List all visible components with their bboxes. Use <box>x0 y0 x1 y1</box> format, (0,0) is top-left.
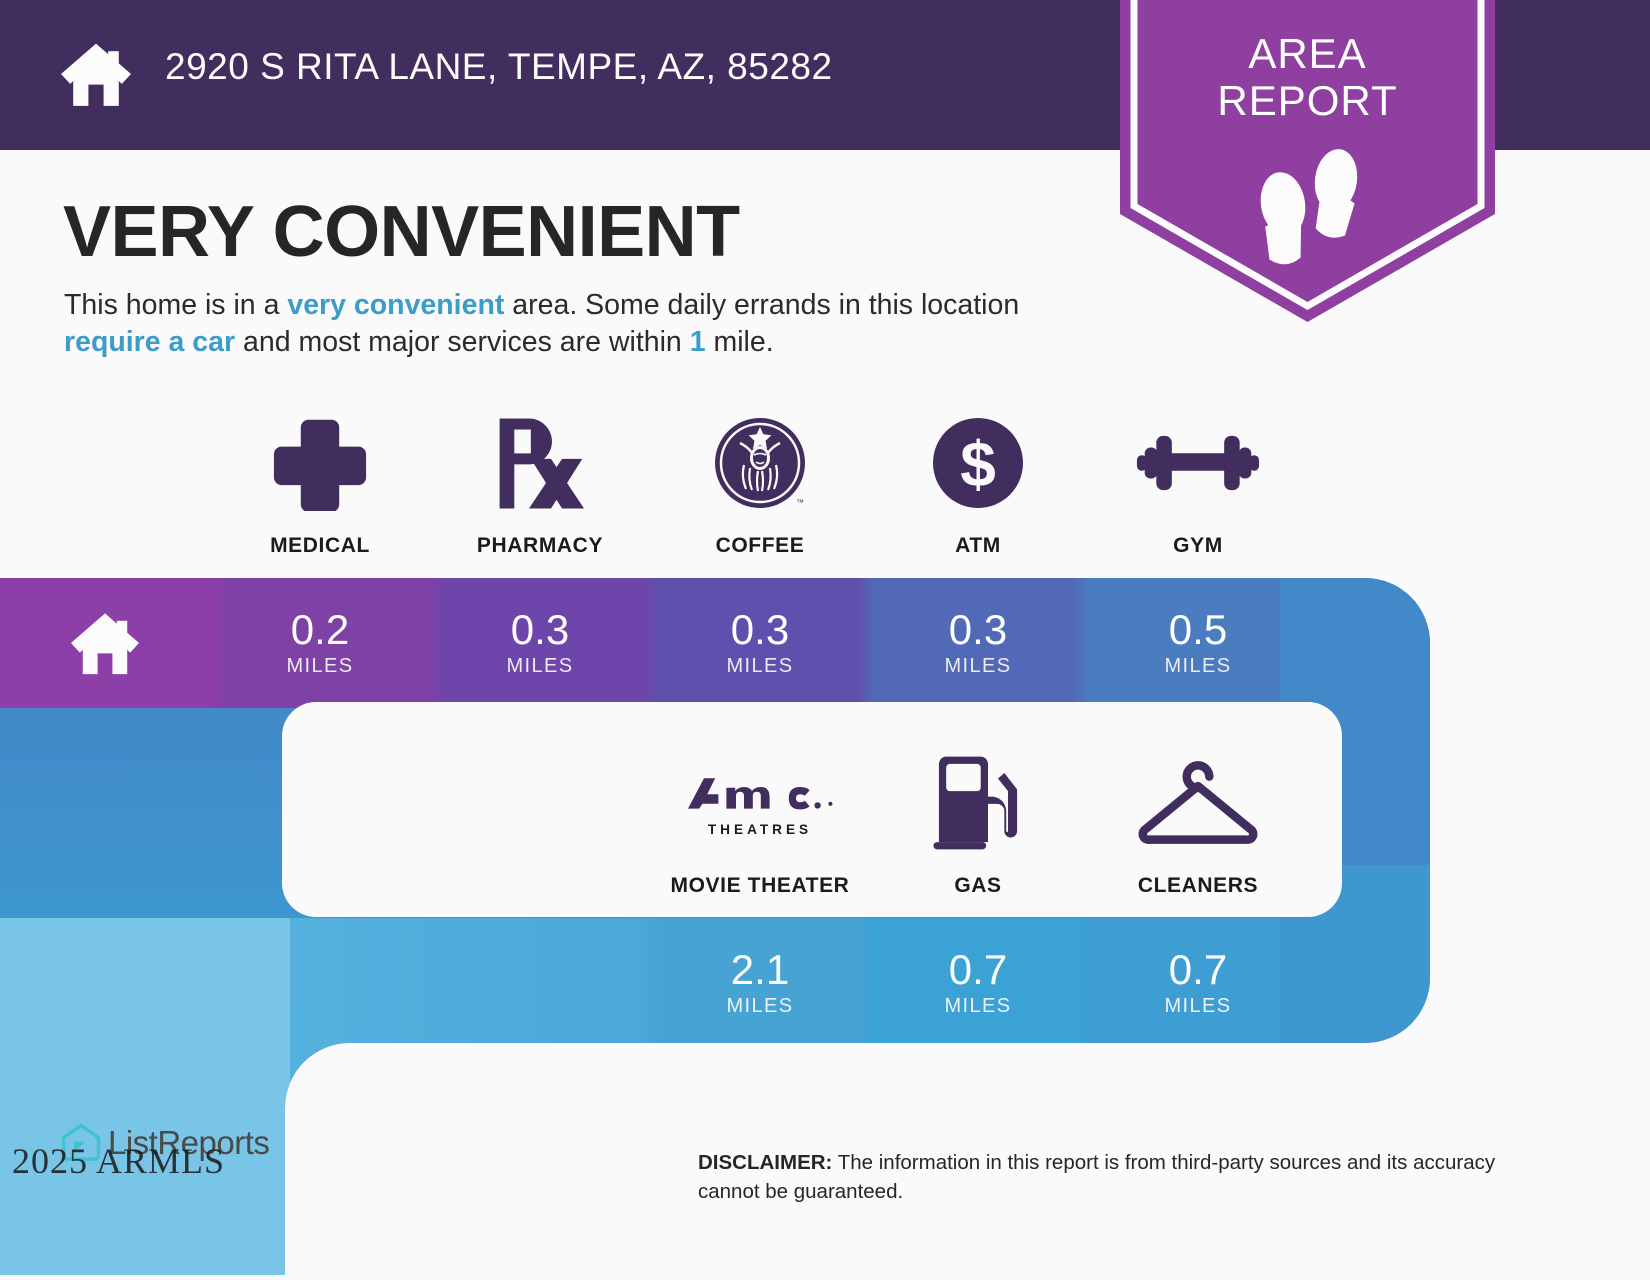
home-icon <box>68 606 142 680</box>
area-report-badge: AREA REPORT <box>1120 0 1495 322</box>
summary-sentence: This home is in a very convenient area. … <box>64 287 1114 361</box>
distance-cell-gym: 0.5 MILES <box>1088 578 1308 708</box>
home-icon <box>58 36 134 112</box>
highlight-require-a-car: require a car <box>64 326 235 358</box>
distance-value: 0.2 <box>291 608 349 652</box>
highlight-mile-count: 1 <box>690 326 706 358</box>
distance-value: 0.7 <box>949 948 1007 992</box>
rx-icon <box>430 410 650 516</box>
poi-label: ATM <box>868 534 1088 558</box>
badge-line-1: AREA <box>1120 30 1495 77</box>
distance-unit: MILES <box>1164 995 1231 1018</box>
mls-watermark: 2025 ARMLS <box>12 1140 225 1182</box>
poi-atm: $ ATM <box>868 410 1088 558</box>
poi-label: MEDICAL <box>210 534 430 558</box>
svg-text:™: ™ <box>796 498 804 507</box>
poi-pharmacy: PHARMACY <box>430 410 650 558</box>
poi-gas: GAS <box>868 750 1088 898</box>
distance-unit: MILES <box>944 995 1011 1018</box>
distance-unit: MILES <box>944 655 1011 678</box>
poi-label: PHARMACY <box>430 534 650 558</box>
disclaimer: DISCLAIMER: The information in this repo… <box>698 1148 1508 1206</box>
row1-icon-strip: MEDICAL PHARMACY <box>0 410 1650 570</box>
poi-label: GAS <box>868 874 1088 898</box>
dumbbell-icon <box>1088 410 1308 516</box>
svg-text:THEATRES: THEATRES <box>708 822 812 837</box>
distance-unit: MILES <box>726 995 793 1018</box>
distance-unit: MILES <box>1164 655 1231 678</box>
poi-movie-theater: THEATRES MOVIE THEATER <box>650 750 870 898</box>
distance-cell-atm: 0.3 MILES <box>868 578 1088 708</box>
poi-label: COFFEE <box>650 534 870 558</box>
distance-value: 0.7 <box>1169 948 1227 992</box>
badge-line-2: REPORT <box>1120 77 1495 124</box>
distance-cell-pharmacy: 0.3 MILES <box>430 578 650 708</box>
amc-theatres-icon: THEATRES <box>650 750 870 856</box>
highlight-very-convenient: very convenient <box>287 289 504 321</box>
row2-icon-strip: THEATRES MOVIE THEATER GAS <box>0 750 1650 910</box>
sentence-part-2: area. Some daily errands in this locatio… <box>504 289 1019 321</box>
distance-value: 0.5 <box>1169 608 1227 652</box>
distance-cell-movie-theater: 2.1 MILES <box>650 918 870 1048</box>
distance-value: 0.3 <box>731 608 789 652</box>
dollar-circle-icon: $ <box>868 410 1088 516</box>
area-report-page: 2920 S RITA LANE, TEMPE, AZ, 85282 AREA … <box>0 0 1650 1275</box>
distance-cell-cleaners: 0.7 MILES <box>1088 918 1308 1048</box>
distance-unit: MILES <box>286 655 353 678</box>
medical-cross-icon <box>210 410 430 516</box>
distance-value: 2.1 <box>731 948 789 992</box>
distance-unit: MILES <box>726 655 793 678</box>
sentence-part-1: This home is in a <box>64 289 287 321</box>
gas-pump-icon <box>868 750 1088 856</box>
row2-distance-cells: 2.1 MILES 0.7 MILES 0.7 MILES <box>0 918 1650 1048</box>
property-address: 2920 S RITA LANE, TEMPE, AZ, 85282 <box>165 46 833 88</box>
page-title: VERY CONVENIENT <box>63 191 740 273</box>
distance-cell-medical: 0.2 MILES <box>210 578 430 708</box>
distance-cell-coffee: 0.3 MILES <box>650 578 870 708</box>
poi-label: GYM <box>1088 534 1308 558</box>
starbucks-icon: ™ <box>650 410 870 516</box>
poi-gym: GYM <box>1088 410 1308 558</box>
hanger-icon <box>1088 750 1308 856</box>
poi-cleaners: CLEANERS <box>1088 750 1308 898</box>
distance-cell-gas: 0.7 MILES <box>868 918 1088 1048</box>
row1-distance-cells: 0.2 MILES 0.3 MILES 0.3 MILES 0.3 MILES … <box>0 578 1650 708</box>
poi-medical: MEDICAL <box>210 410 430 558</box>
svg-text:$: $ <box>960 428 996 500</box>
badge-title: AREA REPORT <box>1120 30 1495 124</box>
poi-label: CLEANERS <box>1088 874 1308 898</box>
distance-value: 0.3 <box>511 608 569 652</box>
disclaimer-label: DISCLAIMER: <box>698 1151 832 1174</box>
distance-unit: MILES <box>506 655 573 678</box>
sentence-part-3: and most major services are within <box>235 326 690 358</box>
home-marker-cell <box>0 578 210 708</box>
poi-label: MOVIE THEATER <box>650 874 870 898</box>
poi-coffee: ™ COFFEE <box>650 410 870 558</box>
sentence-part-4: mile. <box>706 326 774 358</box>
distance-value: 0.3 <box>949 608 1007 652</box>
